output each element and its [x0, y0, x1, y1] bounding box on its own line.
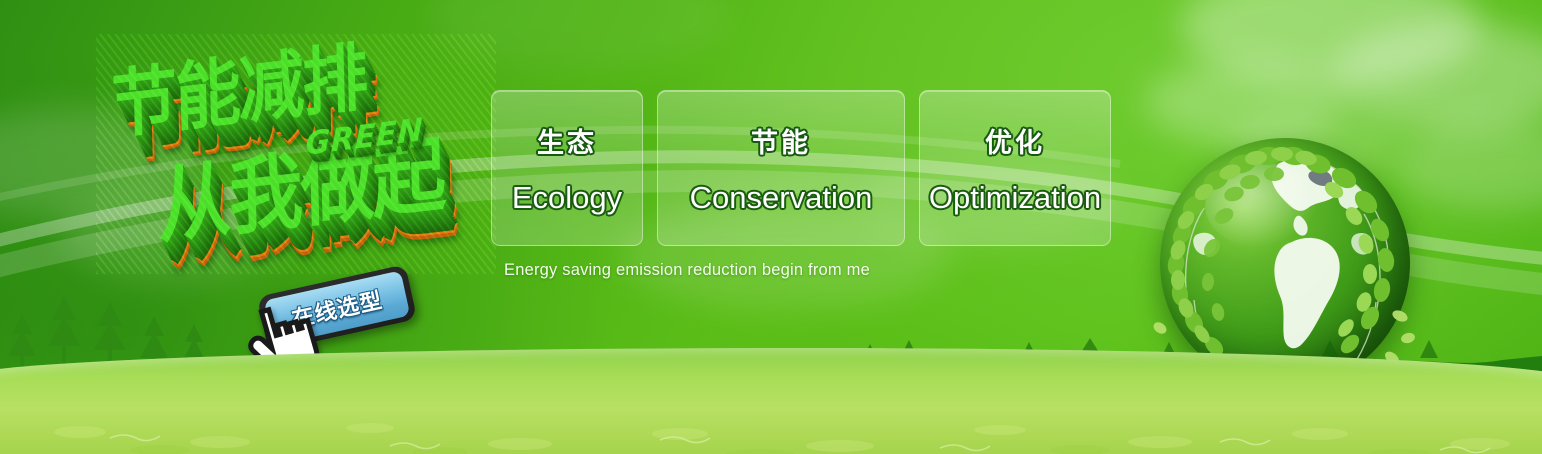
feature-title-cn: 优化	[985, 121, 1045, 160]
globe-sphere	[1160, 138, 1410, 388]
feature-box-conservation[interactable]: 节能 Conservation	[657, 90, 905, 246]
tagline: Energy saving emission reduction begin f…	[504, 261, 870, 280]
feature-title-cn: 生态	[537, 121, 597, 160]
feature-box-optimization[interactable]: 优化 Optimization	[919, 90, 1111, 246]
feature-title-cn: 节能	[751, 121, 811, 160]
feature-title-en: Optimization	[929, 180, 1101, 216]
grass-detail	[0, 380, 1542, 454]
feature-box-group: 生态 Ecology 节能 Conservation 优化 Optimizati…	[491, 90, 1111, 246]
eco-banner: 节能减排 从我做起 GREEN 在线选型 生态 Ecology 节能 Conse…	[0, 0, 1542, 454]
feature-box-ecology[interactable]: 生态 Ecology	[491, 90, 643, 246]
feature-title-en: Ecology	[512, 180, 622, 216]
cloud-icon	[1330, 22, 1542, 132]
globe-highlight	[1205, 163, 1320, 248]
cloud-icon	[1180, 0, 1480, 86]
feature-title-en: Conservation	[690, 180, 873, 216]
headline-3d: 节能减排 从我做起 GREEN	[96, 34, 496, 274]
